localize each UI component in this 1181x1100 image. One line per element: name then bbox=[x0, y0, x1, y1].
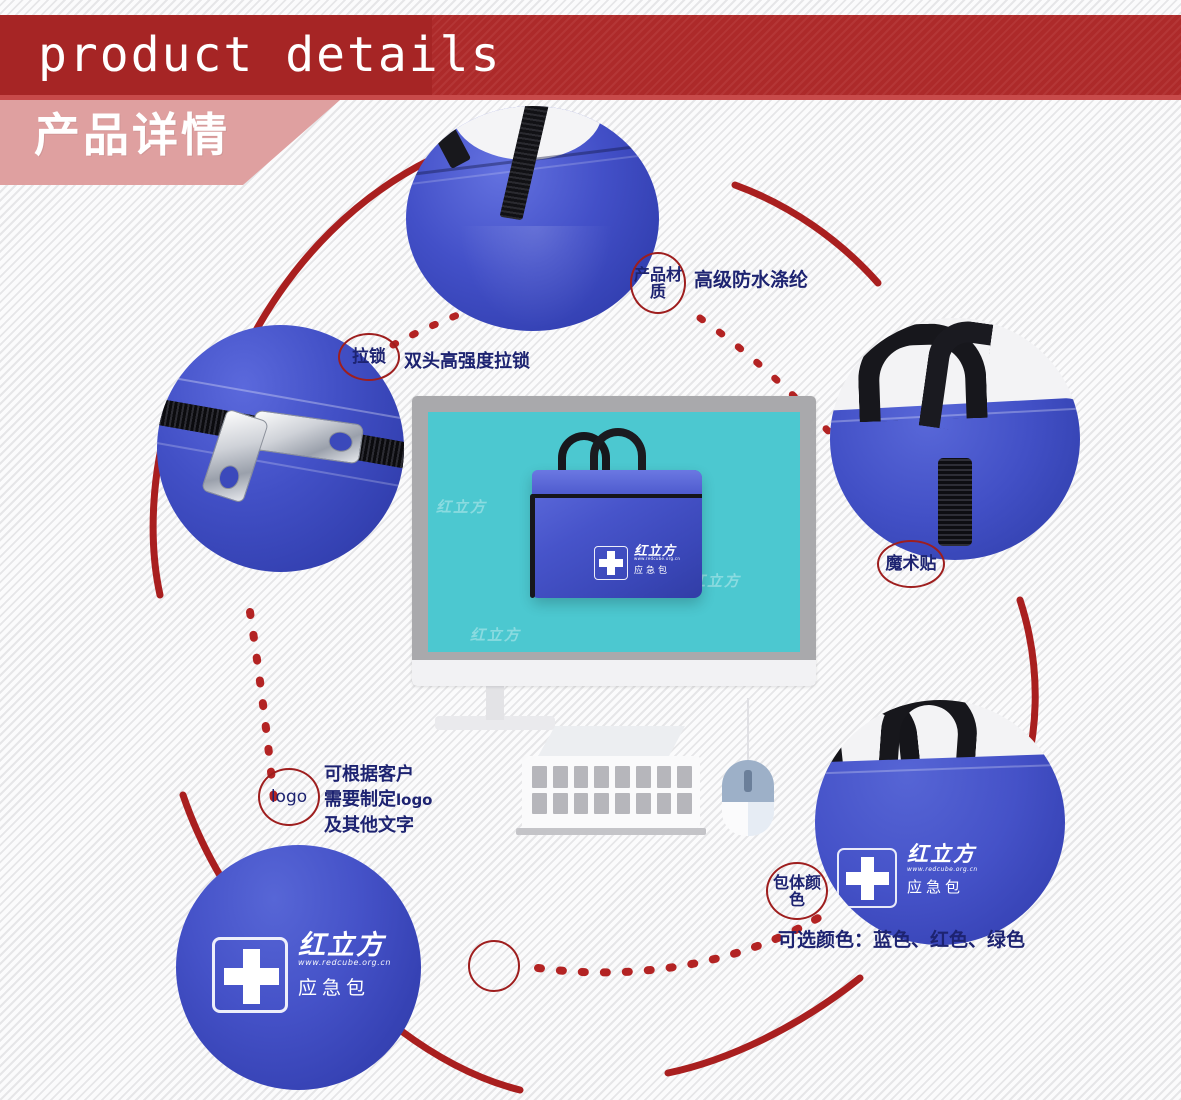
caption-logo: 可根据客户 需要制定logo 及其他文字 bbox=[324, 762, 433, 838]
pull-hole bbox=[216, 463, 242, 492]
brand-subtitle: 应急包 bbox=[298, 973, 370, 1000]
arc-bottom-right bbox=[668, 978, 860, 1073]
medical-cross-icon bbox=[837, 848, 897, 908]
key bbox=[657, 766, 672, 788]
pull-hole bbox=[327, 430, 354, 453]
photo-bubble-velcro bbox=[830, 318, 1080, 560]
key bbox=[615, 793, 630, 815]
key bbox=[594, 766, 609, 788]
key bbox=[532, 793, 547, 815]
key bbox=[594, 793, 609, 815]
fabric-fold-shading bbox=[446, 226, 626, 331]
page-title-cn: 产品详情 bbox=[34, 100, 230, 170]
monitor-chin bbox=[412, 660, 816, 686]
brand-url: www.redcube.org.cn bbox=[907, 866, 978, 873]
mouse-scroll-wheel bbox=[744, 770, 752, 792]
zipper-side bbox=[530, 494, 535, 598]
photo-bubble-material bbox=[406, 106, 659, 331]
brand-name: 红立方 bbox=[907, 838, 976, 868]
caption-color: 可选颜色：蓝色、红色、绿色 bbox=[778, 925, 1025, 952]
brand-subtitle: 应急包 bbox=[634, 563, 670, 576]
leader-logo bbox=[250, 612, 274, 800]
keyboard-foot bbox=[516, 828, 706, 835]
key bbox=[677, 766, 692, 788]
key bbox=[677, 793, 692, 815]
bag-top-panel bbox=[532, 470, 702, 496]
key bbox=[615, 766, 630, 788]
medical-cross-icon bbox=[594, 546, 628, 580]
leader-color bbox=[538, 918, 818, 972]
watermark: 红立方 bbox=[436, 496, 487, 517]
photo-bubble-color: 红立方 www.redcube.org.cn 应急包 bbox=[815, 700, 1065, 945]
arc-top-left bbox=[248, 160, 430, 345]
key bbox=[636, 766, 651, 788]
velcro-strap bbox=[938, 458, 972, 546]
caption-logo-line2: 需要制定logo bbox=[324, 787, 433, 813]
photo-bubble-logo: 红立方 www.redcube.org.cn 应急包 bbox=[176, 845, 421, 1090]
monitor-screen: 红立方 红立方 红立方 红立方 www.redcube.org.cn 应急包 bbox=[428, 412, 800, 652]
mouse-right-button bbox=[748, 802, 774, 836]
badge-material: 产品材质 bbox=[630, 252, 686, 314]
brand-url: www.redcube.org.cn bbox=[634, 556, 680, 561]
key bbox=[532, 766, 547, 788]
caption-material: 高级防水涤纶 bbox=[694, 265, 808, 292]
keyboard-keys bbox=[532, 766, 692, 814]
monitor-neck bbox=[486, 686, 504, 720]
key bbox=[657, 793, 672, 815]
caption-logo-line1: 可根据客户 bbox=[324, 762, 433, 787]
badge-velcro: 魔术贴 bbox=[877, 540, 945, 588]
page-title-en: product details bbox=[38, 24, 501, 86]
computer-mouse-icon bbox=[722, 760, 774, 836]
badge-logo: logo bbox=[258, 768, 320, 826]
keyboard-riser bbox=[537, 726, 685, 758]
key bbox=[553, 793, 568, 815]
caption-logo-line2-en: logo bbox=[396, 791, 433, 809]
caption-logo-line2-cn: 需要制定 bbox=[324, 789, 396, 810]
watermark: 红立方 bbox=[470, 624, 521, 645]
badge-color: 包体颜色 bbox=[766, 862, 828, 920]
mouse-cord bbox=[747, 698, 749, 760]
zipper-icon bbox=[532, 494, 702, 498]
badge-zipper: 拉锁 bbox=[338, 333, 400, 381]
monitor-icon: 红立方 红立方 红立方 红立方 www.redcube.org.cn 应急包 bbox=[412, 396, 816, 686]
brand-url: www.redcube.org.cn bbox=[298, 958, 391, 967]
product-hero-image: 红立方 www.redcube.org.cn 应急包 bbox=[532, 470, 702, 598]
key bbox=[574, 766, 589, 788]
medical-cross-icon bbox=[212, 937, 288, 1013]
brand-name: 红立方 bbox=[298, 923, 385, 962]
caption-zipper: 双头高强度拉锁 bbox=[404, 347, 530, 373]
caption-logo-line3: 及其他文字 bbox=[324, 813, 433, 838]
key bbox=[636, 793, 651, 815]
brand-subtitle: 应急包 bbox=[907, 876, 964, 897]
decorative-ring bbox=[468, 940, 520, 992]
product-details-page: product details 产品详情 bbox=[0, 0, 1181, 1100]
key bbox=[574, 793, 589, 815]
key bbox=[553, 766, 568, 788]
